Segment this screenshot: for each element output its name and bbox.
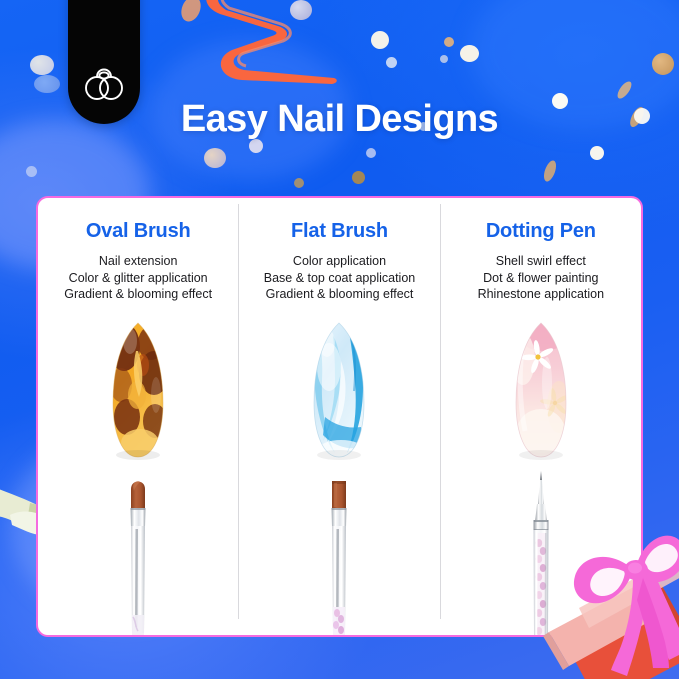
- column-line: Gradient & blooming effect: [264, 286, 416, 303]
- column-line: Color application: [264, 253, 416, 270]
- confetti-dot: [204, 148, 226, 168]
- nail-image-wrap-flat-brush: [311, 317, 367, 467]
- confetti-dot: [249, 139, 263, 153]
- gift-box-icon: [533, 520, 679, 679]
- confetti-dot: [366, 148, 376, 158]
- feature-column-oval-brush[interactable]: Oval Brush Nail extension Color & glitte…: [38, 198, 238, 635]
- confetti-dot: [652, 53, 674, 75]
- confetti-dot: [352, 171, 365, 184]
- confetti-dot: [460, 45, 479, 62]
- column-description-dotting-pen: Shell swirl effect Dot & flower painting…: [478, 253, 604, 303]
- confetti-dot: [386, 57, 397, 68]
- column-title-oval-brush: Oval Brush: [86, 220, 191, 243]
- confetti-dot: [30, 55, 54, 75]
- column-title-flat-brush: Flat Brush: [291, 220, 388, 243]
- column-line: Shell swirl effect: [478, 253, 604, 270]
- column-description-flat-brush: Color application Base & top coat applic…: [264, 253, 416, 303]
- tool-image-wrap-oval-brush: [38, 467, 238, 637]
- confetti-dot: [371, 31, 389, 49]
- column-line: Rhinestone application: [478, 286, 604, 303]
- amber-tortoiseshell-almond-nail: [110, 321, 166, 463]
- column-line: Base & top coat application: [264, 270, 416, 287]
- column-line: Dot & flower painting: [478, 270, 604, 287]
- column-line: Gradient & blooming effect: [64, 286, 212, 303]
- confetti-dot: [590, 146, 604, 160]
- column-line: Color & glitter application: [64, 270, 212, 287]
- nail-image-wrap-oval-brush: [110, 317, 166, 467]
- flat-brush-tool: [319, 467, 359, 637]
- confetti-dot: [294, 178, 304, 188]
- page-title: Easy Nail Designs: [0, 98, 679, 141]
- confetti-dot: [444, 37, 454, 47]
- confetti-dot: [34, 75, 60, 93]
- column-title-dotting-pen: Dotting Pen: [486, 220, 596, 243]
- oval-brush-tool: [118, 467, 158, 637]
- column-line: Nail extension: [64, 253, 212, 270]
- poster-canvas: Easy Nail Designs Oval Brush Nail extens…: [0, 0, 679, 679]
- pink-flower-gradient-almond-nail: [513, 321, 569, 463]
- confetti-dot: [542, 159, 559, 183]
- feature-column-flat-brush[interactable]: Flat Brush Color application Base & top …: [239, 198, 439, 635]
- confetti-dot: [26, 166, 37, 177]
- blue-marble-almond-nail: [311, 321, 367, 463]
- nail-image-wrap-dotting-pen: [513, 317, 569, 467]
- orange-zigzag-streamer-icon: [186, 0, 366, 92]
- column-description-oval-brush: Nail extension Color & glitter applicati…: [64, 253, 212, 303]
- tool-image-wrap-flat-brush: [239, 467, 439, 637]
- confetti-dot: [440, 55, 448, 63]
